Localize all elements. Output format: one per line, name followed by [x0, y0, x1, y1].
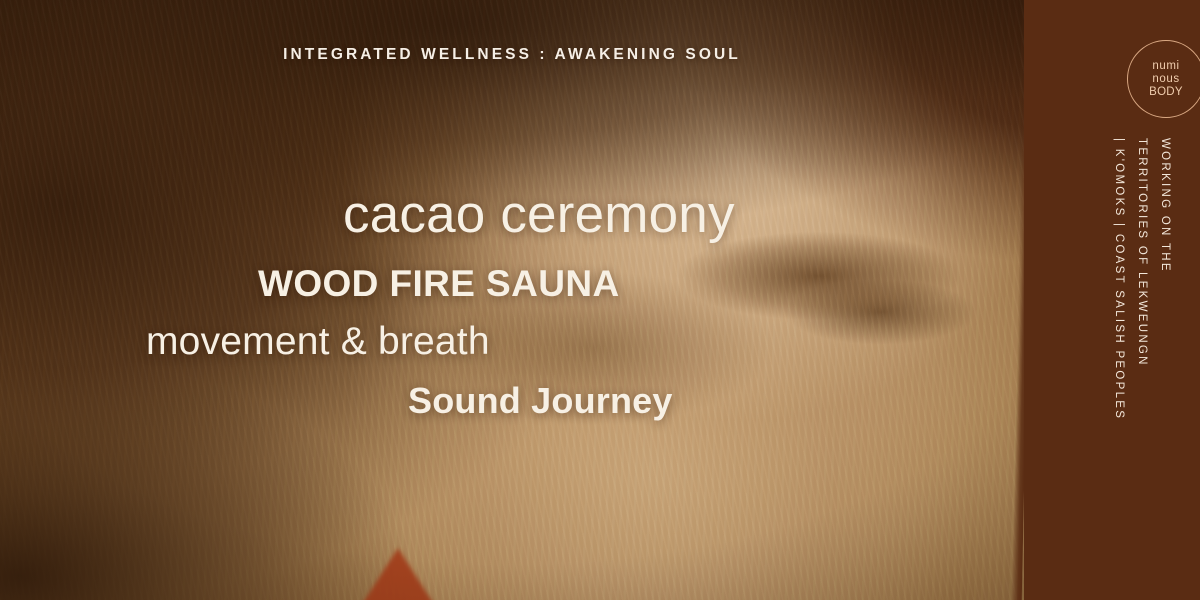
land-acknowledgement-line-2: TERRITORIES OF LEKWEUNGN: [1130, 138, 1153, 448]
land-acknowledgement-line-3: | K'OMOKS | COAST SALISH PEOPLES: [1107, 138, 1130, 448]
land-acknowledgement: WORKING ON THE TERRITORIES OF LEKWEUNGN …: [1048, 138, 1176, 448]
headline-wood-fire-sauna: WOOD FIRE SAUNA: [258, 263, 620, 305]
brand-logo-line-2: nous: [1152, 73, 1179, 86]
event-poster: INTEGRATED WELLNESS : AWAKENING SOUL cac…: [0, 0, 1200, 600]
brand-logo-line-3: BODY: [1149, 86, 1183, 99]
brand-logo: numi nous BODY: [1127, 40, 1200, 118]
side-panel: numi nous BODY WORKING ON THE TERRITORIE…: [1024, 0, 1200, 600]
headline-stack: cacao ceremony WOOD FIRE SAUNA movement …: [0, 0, 1024, 600]
brand-logo-line-1: numi: [1152, 60, 1179, 73]
headline-cacao-ceremony: cacao ceremony: [343, 184, 735, 245]
headline-movement-and-breath: movement & breath: [146, 320, 490, 364]
headline-sound-journey: Sound Journey: [408, 380, 673, 422]
land-acknowledgement-line-1: WORKING ON THE: [1153, 138, 1176, 448]
